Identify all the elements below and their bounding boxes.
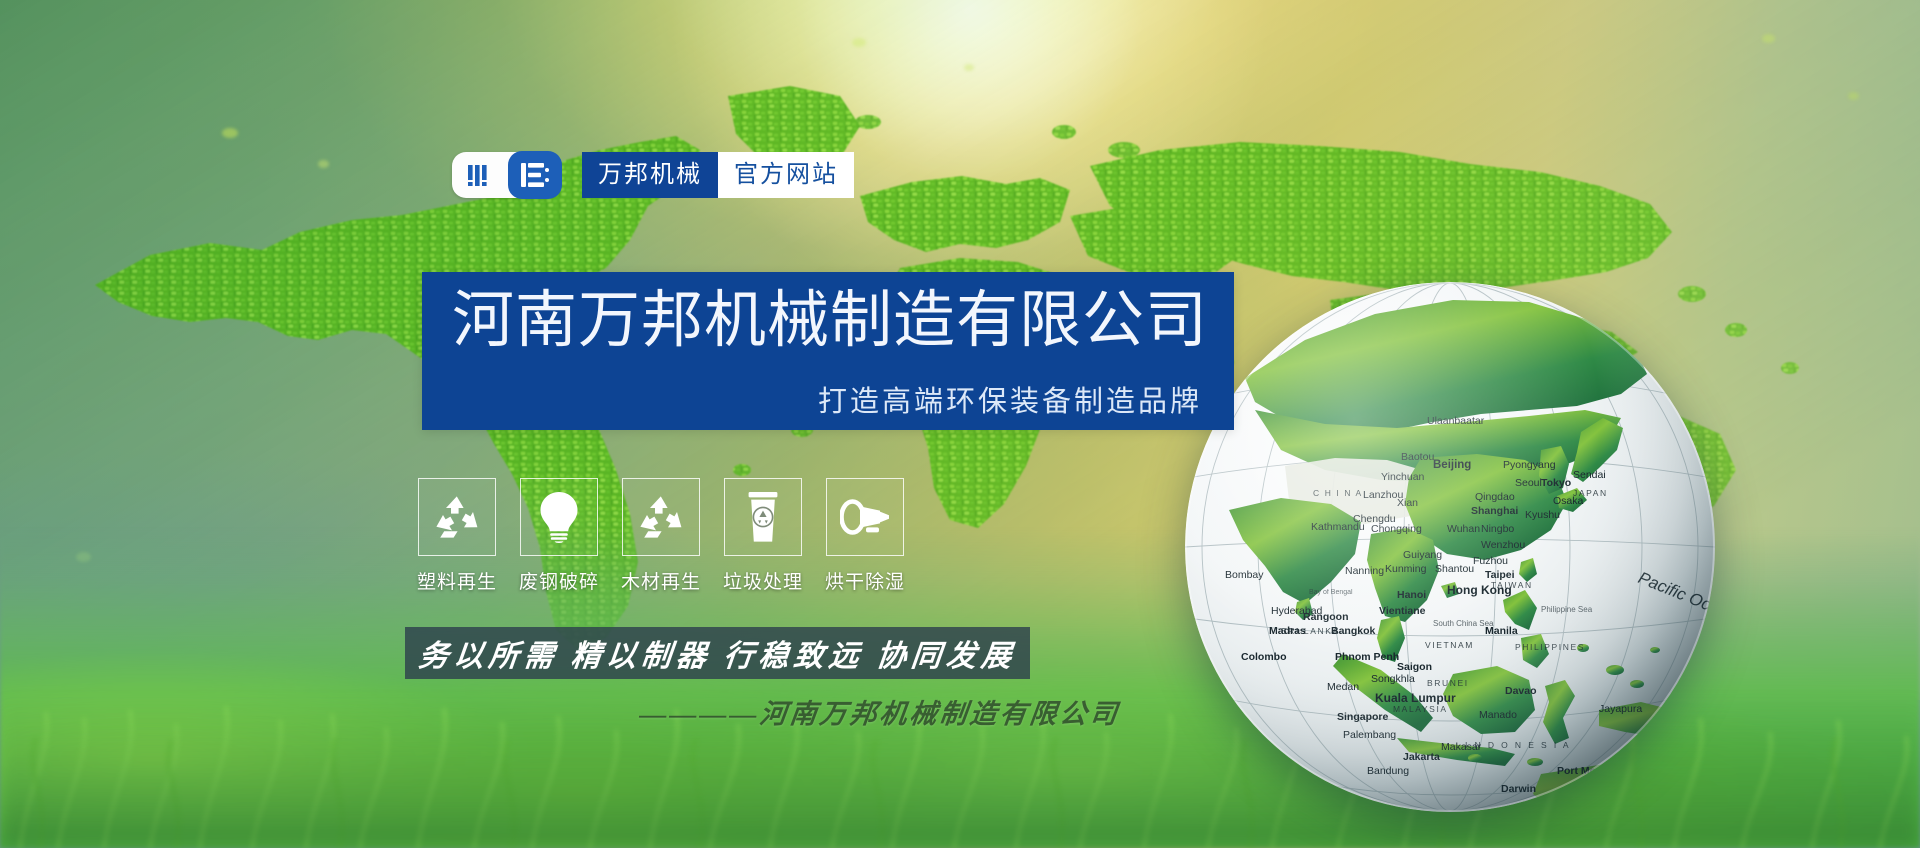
- blower-icon: [840, 498, 890, 536]
- bokeh-fleck: [318, 160, 329, 168]
- company-name-title: 河南万邦机械制造有限公司: [452, 282, 1208, 360]
- recycle-icon: [637, 494, 685, 540]
- feature-label: 木材再生: [621, 567, 701, 594]
- nav-official-site-button[interactable]: 官方网站: [718, 152, 854, 198]
- feature-icon-box: [622, 478, 700, 556]
- bokeh-fleck: [964, 64, 974, 71]
- feature-icon-box: [520, 478, 598, 556]
- company-tagline: 打造高端环保装备制造品牌: [818, 378, 1202, 420]
- slogan-attribution: ————河南万邦机械制造有限公司: [638, 692, 1123, 731]
- hero-banner-page: Pacific Ocean Indian Ocean South China S…: [0, 0, 1920, 848]
- feature-icon-box: [418, 478, 496, 556]
- feature-label: 废钢破碎: [519, 567, 599, 594]
- bokeh-fleck: [222, 128, 238, 138]
- feature-label: 垃圾处理: [723, 567, 803, 594]
- slogan-bar: 务以所需 精以制器 行稳致远 协同发展: [405, 627, 1030, 679]
- nav-brand-button[interactable]: 万邦机械: [582, 152, 718, 198]
- nav-official-site-label: 官方网站: [734, 163, 838, 187]
- feature-plastic-recycling[interactable]: 塑料再生: [418, 478, 496, 594]
- bokeh-fleck: [1762, 34, 1775, 43]
- recycle-icon: [433, 494, 481, 540]
- nav-brand-label: 万邦机械: [598, 163, 702, 187]
- earth-globe: Pacific Ocean Indian Ocean South China S…: [1185, 282, 1715, 812]
- logo-b-plate: [508, 151, 562, 199]
- feature-scrap-steel-shredding[interactable]: 废钢破碎: [520, 478, 598, 594]
- lightbulb-icon: [538, 491, 580, 543]
- logo-w-icon: [468, 165, 496, 186]
- feature-wood-recycling[interactable]: 木材再生: [622, 478, 700, 594]
- feature-waste-treatment[interactable]: 垃圾处理: [724, 478, 802, 594]
- feature-icon-box: [724, 478, 802, 556]
- company-banner: 河南万邦机械制造有限公司 打造高端环保装备制造品牌: [422, 272, 1234, 430]
- site-header: 万邦机械 官方网站: [452, 152, 854, 198]
- feature-drying-dehumidifying[interactable]: 烘干除湿: [826, 478, 904, 594]
- feature-icon-box: [826, 478, 904, 556]
- bokeh-fleck: [1848, 92, 1859, 100]
- feature-icon-row: 塑料再生 废钢破碎 木材再生: [418, 478, 904, 594]
- wanbang-logo[interactable]: [452, 152, 560, 198]
- trash-bin-icon: [745, 491, 781, 543]
- logo-b-icon: [521, 163, 549, 187]
- feature-label: 烘干除湿: [825, 567, 905, 594]
- slogan-text: 务以所需 精以制器 行稳致远 协同发展: [416, 631, 1018, 675]
- feature-label: 塑料再生: [417, 567, 497, 594]
- bokeh-fleck: [852, 38, 866, 47]
